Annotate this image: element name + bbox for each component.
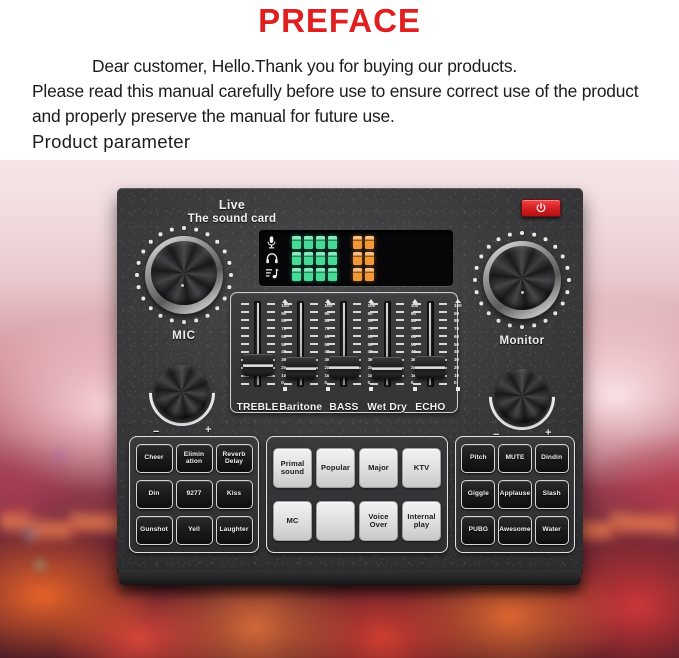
fader-handle[interactable]	[415, 356, 445, 378]
fader-handle[interactable]	[329, 356, 359, 378]
mic-knob-label: MIC	[133, 330, 235, 342]
pad-laughter[interactable]: Laughter	[216, 516, 253, 545]
fader-track[interactable]: 1009080706050403020100	[414, 299, 446, 389]
music-note-icon	[266, 267, 286, 281]
mic-knob[interactable]	[133, 224, 235, 326]
monitor-knob-indicator	[521, 291, 524, 294]
fader-handle[interactable]	[243, 354, 273, 376]
pad-label-line: Cheer	[144, 455, 163, 462]
pad-label-line: Gunshot	[140, 527, 168, 534]
monitor-knob[interactable]	[471, 229, 573, 331]
pad-major[interactable]: Major	[359, 448, 398, 488]
pad-din[interactable]: Din	[136, 480, 173, 509]
preface-paragraph: Dear customer, Hello.Thank you for buyin…	[0, 54, 679, 129]
led-row-headphone	[266, 251, 447, 265]
fader-track[interactable]: 1009080706050403020100	[242, 299, 274, 389]
pad-voice-over[interactable]: VoiceOver	[359, 501, 398, 541]
pad-applause[interactable]: Applause	[498, 480, 532, 509]
pad-label-line: MC	[286, 517, 298, 525]
mic-knob-indicator	[181, 284, 184, 287]
fader-track[interactable]: 1009080706050403020100	[285, 299, 317, 389]
pad-mc[interactable]: MC	[273, 501, 312, 541]
power-icon	[535, 202, 547, 214]
scale-tick-label: 20	[454, 366, 462, 371]
pad-gunshot[interactable]: Gunshot	[136, 516, 173, 545]
fader-echo[interactable]: 1009080706050403020100ECHO	[411, 299, 449, 411]
scale-tick-label: 70	[454, 327, 462, 332]
pad-label-line: Dindin	[541, 455, 562, 462]
pad-dindin[interactable]: Dindin	[535, 444, 569, 473]
scale-tick-label: 50	[454, 343, 462, 348]
scale-tick-label: 40	[454, 350, 462, 355]
fader-handle[interactable]	[286, 357, 316, 379]
pad-label-line: Giggle	[468, 491, 489, 498]
power-button[interactable]	[521, 199, 561, 217]
pad-label-line: Kiss	[227, 491, 241, 498]
pad-label-line: PUBG	[469, 527, 488, 534]
section-heading: Product parameter	[0, 131, 679, 153]
led-level-display	[259, 230, 453, 286]
paragraph-line-1: Dear customer, Hello.Thank you for buyin…	[32, 54, 649, 79]
fader-track[interactable]: 1009080706050403020100	[328, 299, 360, 389]
pad-label-line: sound	[281, 468, 304, 476]
pad-internal-play[interactable]: Internalplay	[402, 501, 441, 541]
led-cells-headphone	[292, 252, 374, 265]
fader-scale: 1009080706050403020100	[450, 299, 465, 391]
pad-label-line: Applause	[500, 491, 530, 498]
pad-9277[interactable]: 9277	[176, 480, 213, 509]
pad-label-line: Laughter	[219, 527, 248, 534]
pad-label-line: Water	[542, 527, 561, 534]
product-photo: Live The sound card	[0, 155, 679, 658]
scale-tick-label: 0	[454, 381, 462, 386]
pad-yell[interactable]: Yell	[176, 516, 213, 545]
pad-kiss[interactable]: Kiss	[216, 480, 253, 509]
pad-pubg[interactable]: PUBG	[461, 516, 495, 545]
fader-treble[interactable]: 1009080706050403020100TREBLE	[239, 299, 277, 411]
scale-tick-label: 10	[454, 374, 462, 379]
monitor-knob-label: Monitor	[471, 335, 573, 347]
pad-label-line: Major	[368, 464, 389, 472]
pad-label-line: Yell	[188, 527, 200, 534]
pad-label-line: Over	[370, 521, 388, 529]
fader-handle[interactable]	[372, 357, 402, 379]
pad-label-line: Popular	[321, 464, 350, 472]
music-knob[interactable]	[149, 360, 215, 426]
preface-text-block: PREFACE Dear customer, Hello.Thank you f…	[0, 0, 679, 160]
pad-label-line: 9277	[186, 491, 201, 498]
led-cells-music	[292, 268, 374, 281]
fader-bass[interactable]: 1009080706050403020100BASS	[325, 299, 363, 411]
pad-awesome[interactable]: Awesome	[498, 516, 532, 545]
monitor-knob-face	[489, 246, 555, 310]
brand-text: Live The sound card	[137, 198, 327, 225]
scale-tick-label: 100	[454, 304, 462, 309]
music-knob-face	[155, 365, 209, 419]
pad-elimin-ation[interactable]: Elimination	[176, 444, 213, 473]
effects-left-group: CheerEliminationReverbDelayDin9277KissGu…	[129, 436, 259, 553]
record-knob-face	[495, 369, 549, 423]
fader-track[interactable]: 1009080706050403020100	[371, 299, 403, 389]
pad-label-line: Slash	[543, 491, 561, 498]
scale-tick-label: 60	[454, 335, 462, 340]
pad-cheer[interactable]: Cheer	[136, 444, 173, 473]
pad-primal-sound[interactable]: Primalsound	[273, 448, 312, 488]
pad-reverb-delay[interactable]: ReverbDelay	[216, 444, 253, 473]
headphone-icon	[266, 251, 286, 265]
pad-label-line: play	[414, 521, 430, 529]
mic-knob-face	[151, 241, 217, 305]
pad-blank[interactable]	[316, 501, 355, 541]
pad-pitch[interactable]: Pitch	[461, 444, 495, 473]
pad-giggle[interactable]: Giggle	[461, 480, 495, 509]
paragraph-line-2: Please read this manual carefully before…	[32, 81, 530, 101]
pad-water[interactable]: Water	[535, 516, 569, 545]
effects-right-group: PitchMUTEDindinGiggleApplauseSlashPUBGAw…	[455, 436, 575, 553]
music-plus-label: +	[205, 424, 211, 436]
microphone-icon	[266, 235, 286, 249]
pad-label-line: ation	[186, 459, 202, 466]
led-cells-mic	[292, 236, 374, 249]
pad-label-line: Delay	[225, 459, 243, 466]
scale-tick-label: 30	[454, 358, 462, 363]
fader-label: ECHO	[402, 402, 458, 413]
device-front-lip	[119, 570, 581, 585]
pad-label-line: Pitch	[470, 455, 487, 462]
led-row-music	[266, 267, 447, 281]
sound-card-device: Live The sound card	[117, 188, 583, 575]
page-title: PREFACE	[0, 0, 679, 40]
scale-tick-label: 80	[454, 319, 462, 324]
scale-numbers: 1009080706050403020100	[454, 304, 462, 386]
scale-bottom-marker	[456, 387, 460, 391]
led-row-mic	[266, 235, 447, 249]
modes-middle-group: PrimalsoundPopularMajorKTVMCVoiceOverInt…	[266, 436, 448, 553]
record-knob[interactable]	[489, 364, 555, 430]
pad-ktv[interactable]: KTV	[402, 448, 441, 488]
fader-wet-dry[interactable]: 1009080706050403020100Wet Dry	[368, 299, 406, 411]
pad-popular[interactable]: Popular	[316, 448, 355, 488]
pad-label-line: MUTE	[505, 455, 524, 462]
brand-line-2: The sound card	[137, 213, 327, 225]
pad-label-line: KTV	[414, 464, 430, 472]
fader-panel: 1009080706050403020100TREBLE100908070605…	[230, 292, 458, 413]
pad-slash[interactable]: Slash	[535, 480, 569, 509]
brand-line-1: Live	[137, 198, 327, 212]
pad-label-line: Awesome	[499, 527, 530, 534]
pad-label-line: Din	[149, 491, 160, 498]
scale-tick-label: 90	[454, 312, 462, 317]
fader-baritone[interactable]: 1009080706050403020100Baritone	[282, 299, 320, 411]
pad-mute[interactable]: MUTE	[498, 444, 532, 473]
